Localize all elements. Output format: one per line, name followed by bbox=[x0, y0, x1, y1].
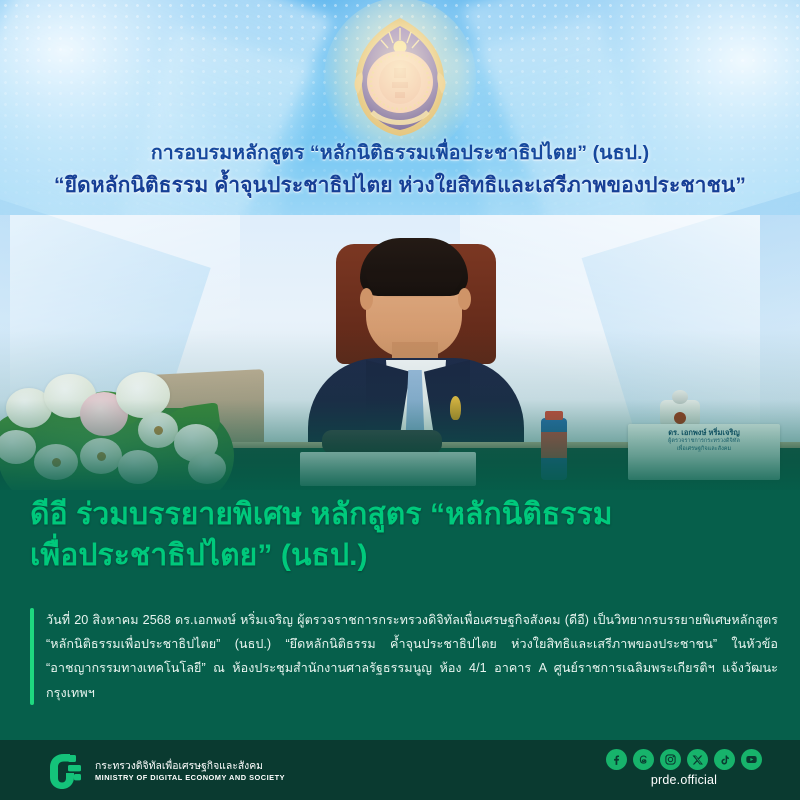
royal-thai-emblem-icon bbox=[348, 14, 452, 139]
stage-banner: การอบรมหลักสูตร “หลักนิติธรรมเพื่อประชาธ… bbox=[0, 139, 800, 202]
mdes-logo-icon bbox=[42, 751, 86, 791]
body-text: วันที่ 20 สิงหาคม 2568 ดร.เอกพงษ์ หริ่มเ… bbox=[46, 608, 778, 705]
threads-icon[interactable] bbox=[633, 749, 654, 770]
tiktok-icon[interactable] bbox=[714, 749, 735, 770]
headline-line2: เพื่อประชาธิปไตย” (นธป.) bbox=[30, 535, 775, 576]
youtube-icon[interactable] bbox=[741, 749, 762, 770]
ministry-brand: กระทรวงดิจิทัลเพื่อเศรษฐกิจและสังคม MINI… bbox=[42, 751, 285, 791]
photo-green-fade bbox=[0, 330, 800, 505]
headline-line1: ดีอี ร่วมบรรยายพิเศษ หลักสูตร “หลักนิติธ… bbox=[30, 494, 775, 535]
ministry-brand-text: กระทรวงดิจิทัลเพื่อเศรษฐกิจและสังคม MINI… bbox=[95, 760, 285, 783]
footer: กระทรวงดิจิทัลเพื่อเศรษฐกิจและสังคม MINI… bbox=[0, 740, 800, 800]
ear bbox=[360, 288, 373, 310]
social-media-poster: การอบรมหลักสูตร “หลักนิติธรรมเพื่อประชาธ… bbox=[0, 0, 800, 800]
social-icon-row bbox=[606, 749, 762, 770]
headline: ดีอี ร่วมบรรยายพิเศษ หลักสูตร “หลักนิติธ… bbox=[30, 494, 775, 577]
body-block: วันที่ 20 สิงหาคม 2568 ดร.เอกพงษ์ หริ่มเ… bbox=[30, 608, 778, 705]
x-twitter-icon[interactable] bbox=[687, 749, 708, 770]
hair bbox=[360, 238, 468, 296]
emblem-halo bbox=[324, 0, 476, 158]
facebook-icon[interactable] bbox=[606, 749, 627, 770]
stage-banner-line2: “ยึดหลักนิติธรรม ค้ำจุนประชาธิปไตย ห่วงใ… bbox=[0, 170, 800, 202]
ministry-name-th: กระทรวงดิจิทัลเพื่อเศรษฐกิจและสังคม bbox=[95, 760, 285, 773]
ministry-name-en: MINISTRY OF DIGITAL ECONOMY AND SOCIETY bbox=[95, 773, 285, 783]
ear bbox=[458, 288, 471, 310]
stage-banner-line1: การอบรมหลักสูตร “หลักนิติธรรมเพื่อประชาธ… bbox=[0, 139, 800, 168]
event-photo: การอบรมหลักสูตร “หลักนิติธรรมเพื่อประชาธ… bbox=[0, 0, 800, 505]
content-area: ดีอี ร่วมบรรยายพิเศษ หลักสูตร “หลักนิติธ… bbox=[0, 490, 800, 740]
accent-bar bbox=[30, 608, 34, 705]
instagram-icon[interactable] bbox=[660, 749, 681, 770]
social-links: prde.official bbox=[606, 749, 762, 787]
social-handle: prde.official bbox=[606, 773, 762, 787]
